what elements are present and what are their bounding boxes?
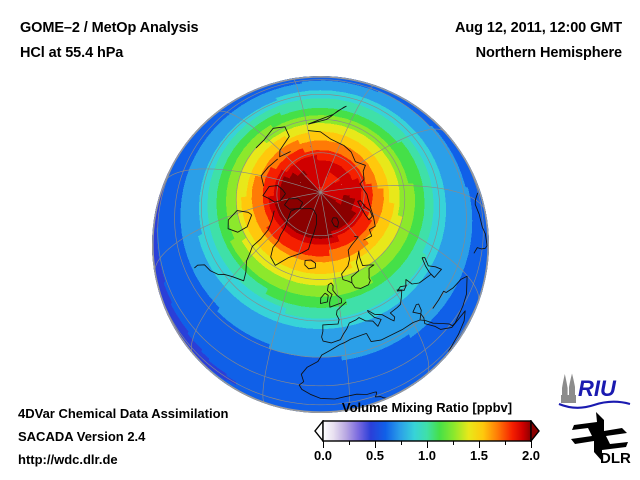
credit-version: SACADA Version 2.4: [18, 429, 145, 444]
visualization-canvas: GOME–2 / MetOp Analysis HCl at 55.4 hPa …: [0, 0, 640, 480]
colorbar-tick: [427, 441, 428, 448]
colorbar-tick: [375, 441, 376, 448]
globe-map: [152, 76, 489, 413]
colorbar-body: [323, 421, 531, 441]
colorbar-tick-label: 2.0: [522, 448, 540, 463]
colorbar-minor-tick: [349, 441, 350, 445]
colorbar-title: Volume Mixing Ratio [ppbv]: [314, 400, 540, 415]
riu-logo: RIU: [558, 373, 632, 409]
riu-cathedral-icon: [561, 374, 576, 404]
colorbar-tick: [323, 441, 324, 448]
dlr-logo: DLR: [566, 411, 634, 465]
title-species-level: HCl at 55.4 hPa: [20, 45, 123, 61]
title-datetime: Aug 12, 2011, 12:00 GMT: [455, 20, 622, 36]
colorbar-tick-label: 0.5: [366, 448, 384, 463]
globe-svg: [152, 76, 489, 413]
colorbar-minor-tick: [453, 441, 454, 445]
colorbar-tick-label: 1.0: [418, 448, 436, 463]
colorbar-tick-label: 1.5: [470, 448, 488, 463]
credit-method: 4DVar Chemical Data Assimilation: [18, 406, 229, 421]
credit-url: http://wdc.dlr.de: [18, 452, 118, 467]
colorbar-tick: [531, 441, 532, 448]
colorbar-tick: [479, 441, 480, 448]
globe-data-field: [152, 76, 489, 413]
title-instrument: GOME–2 / MetOp Analysis: [20, 20, 198, 36]
colorbar-tick-labels: 0.00.51.01.52.0: [314, 448, 540, 468]
title-region: Northern Hemisphere: [476, 45, 622, 61]
colorbar-extend-low: [315, 421, 323, 441]
colorbar-minor-tick: [401, 441, 402, 445]
colorbar-minor-tick: [505, 441, 506, 445]
colorbar-tick-label: 0.0: [314, 448, 332, 463]
dlr-wordmark: DLR: [600, 450, 631, 465]
globe-disc: [152, 76, 489, 413]
riu-wordmark: RIU: [578, 376, 617, 401]
colorbar-extend-high: [531, 421, 539, 441]
colorbar: Volume Mixing Ratio [ppbv] 0.00.51.01.52…: [314, 400, 540, 470]
colorbar-gradient: [314, 420, 540, 442]
